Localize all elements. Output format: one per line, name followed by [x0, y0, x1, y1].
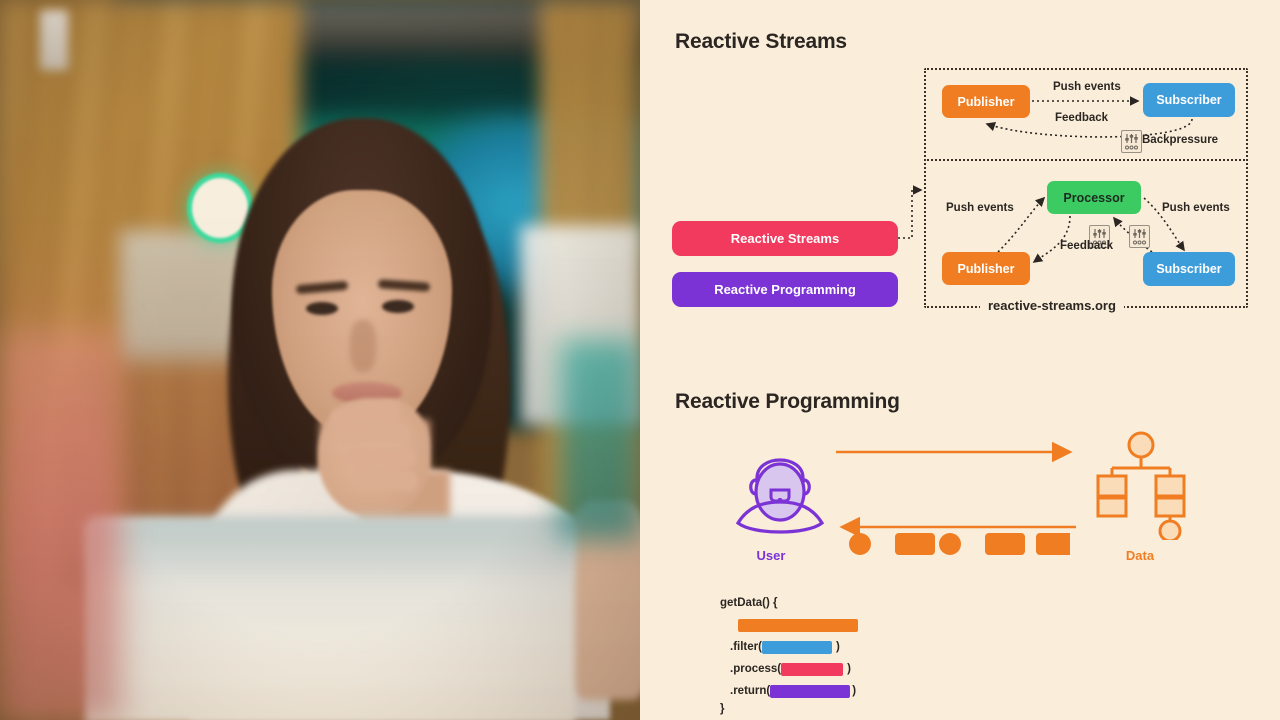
data-label: Data — [1108, 548, 1172, 563]
code-line: } — [720, 702, 858, 716]
label-feedback-top: Feedback — [1055, 112, 1108, 124]
node-processor[interactable]: Processor — [1047, 181, 1141, 214]
hero-photo — [0, 0, 640, 720]
code-block: getData() { .filter( ) .process( ) .retu… — [720, 592, 858, 716]
code-line: .filter( ) — [720, 636, 858, 658]
content-panel: Reactive Streams Reactive Streams Reacti… — [640, 0, 1280, 720]
node-subscriber-bottom[interactable]: Subscriber — [1143, 252, 1235, 286]
code-bar-pink — [781, 663, 843, 676]
stream-item-circle — [849, 533, 871, 555]
code-bar-blue — [762, 641, 832, 654]
code-text: ) — [850, 685, 856, 697]
reactive-streams-source-url: reactive-streams.org — [980, 298, 1124, 313]
sliders-icon — [1129, 225, 1150, 248]
code-bar-orange — [738, 619, 858, 632]
label-push-events-right: Push events — [1162, 202, 1230, 214]
label-backpressure: Backpressure — [1142, 134, 1218, 146]
user-avatar-icon — [725, 430, 835, 540]
code-line: .process( ) — [720, 658, 858, 680]
sliders-icon — [1121, 130, 1142, 153]
stream-item-rect — [985, 533, 1025, 555]
stream-item-rect — [895, 533, 935, 555]
photo-vignette — [0, 0, 640, 720]
section-title-reactive-streams: Reactive Streams — [675, 30, 847, 54]
pill-reactive-programming[interactable]: Reactive Programming — [672, 272, 898, 307]
pill-reactive-streams[interactable]: Reactive Streams — [672, 221, 898, 256]
node-publisher-top[interactable]: Publisher — [942, 85, 1030, 118]
code-line — [720, 614, 858, 636]
slide-root: Reactive Streams Reactive Streams Reacti… — [0, 0, 1280, 720]
stream-item-rect — [1036, 533, 1070, 555]
node-subscriber-top[interactable]: Subscriber — [1143, 83, 1235, 117]
reactive-streams-divider — [924, 159, 1248, 161]
pill-label: Reactive Streams — [731, 231, 839, 246]
code-text: .process( — [730, 663, 781, 675]
label-push-events-top: Push events — [1053, 81, 1121, 93]
code-line: .return( ) — [720, 680, 858, 702]
code-text: ) — [832, 641, 840, 653]
code-text: ) — [843, 663, 851, 675]
user-label: User — [739, 548, 803, 563]
data-tree-icon — [1095, 430, 1187, 540]
code-text: getData() { — [720, 597, 778, 609]
code-text: .return( — [730, 685, 770, 697]
stream-item-circle — [939, 533, 961, 555]
code-line: getData() { — [720, 592, 858, 614]
label-feedback-bottom: Feedback — [1060, 240, 1113, 252]
section-title-reactive-programming: Reactive Programming — [675, 390, 900, 414]
stream-items — [840, 530, 1070, 560]
node-publisher-bottom[interactable]: Publisher — [942, 252, 1030, 285]
pill-label: Reactive Programming — [714, 282, 856, 297]
code-text: } — [720, 703, 724, 715]
label-push-events-left: Push events — [946, 202, 1014, 214]
code-bar-purple — [770, 685, 850, 698]
code-text: .filter( — [730, 641, 762, 653]
